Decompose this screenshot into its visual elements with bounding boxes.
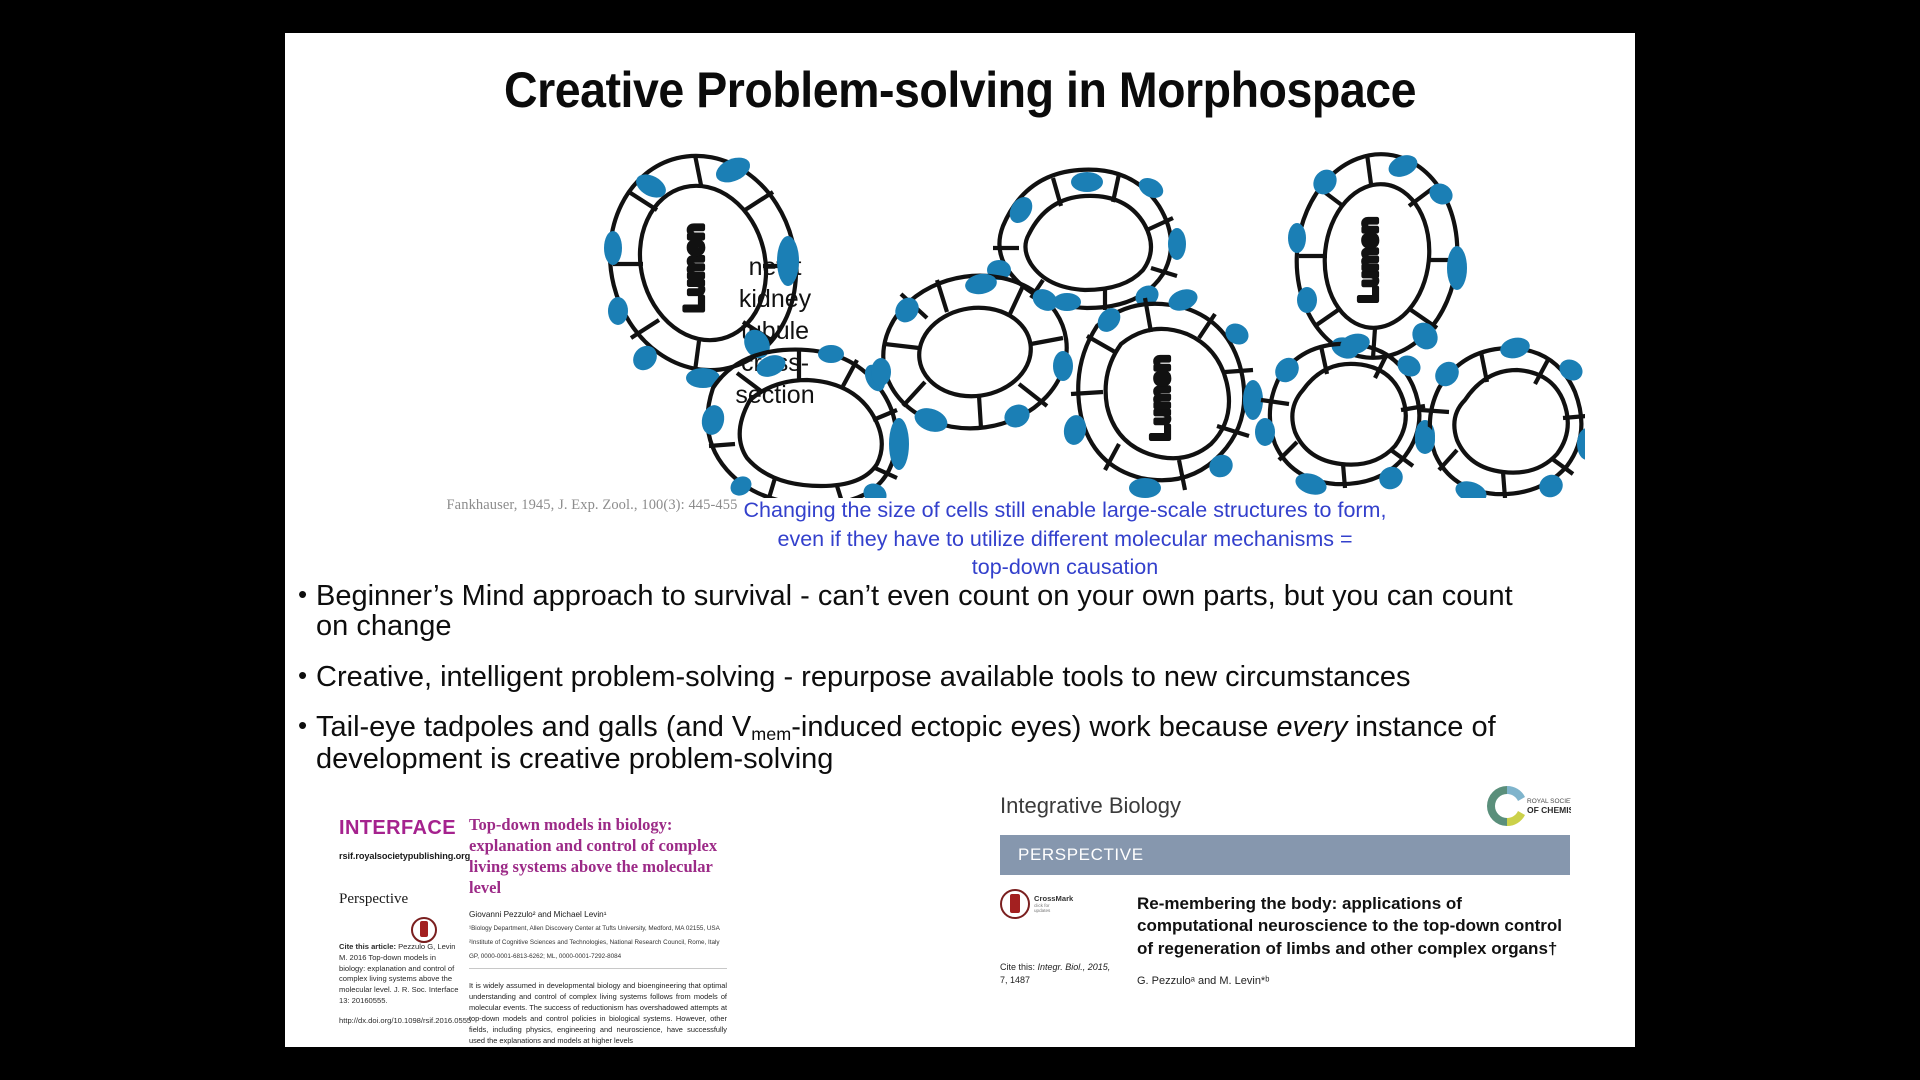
perspective-banner-label: PERSPECTIVE xyxy=(1018,845,1144,865)
bullet-line: Creative, intelligent problem-solving - … xyxy=(316,662,1635,692)
svg-text:ROYAL SOCIETY: ROYAL SOCIETY xyxy=(1527,798,1571,805)
crossmark-badge xyxy=(411,917,471,951)
list-item: • Tail-eye tadpoles and galls (and Vmem-… xyxy=(290,712,1635,774)
integrative-biology-authors: G. Pezzuloᵃ and M. Levin*ᵇ xyxy=(1137,975,1567,987)
cite-journal: Integr. Biol., 2015, xyxy=(1038,962,1111,972)
vmem-subscript: mem xyxy=(751,724,791,744)
crossmark-sublabel: click for updates xyxy=(1034,903,1060,913)
crossmark-badge: CrossMark click for updates xyxy=(1000,889,1060,923)
bullet-text-tail: instance of xyxy=(1347,711,1495,743)
bullet-line: development is creative problem-solving xyxy=(316,744,1635,774)
bullet-text-italic: every xyxy=(1276,711,1347,743)
interface-affiliation: ¹Biology Department, Allen Discovery Cen… xyxy=(469,924,727,933)
bullet-text-before: Tail-eye tadpoles and galls (and V xyxy=(316,711,751,743)
video-frame: Creative Problem-solving in Morphospace … xyxy=(0,0,1920,1080)
interface-url: rsif.royalsocietypublishing.org xyxy=(339,851,459,861)
lumen-label-2: Lumen xyxy=(1145,355,1175,440)
blue-caption-line: Changing the size of cells still enable … xyxy=(685,496,1445,525)
interface-affiliation: ²Institute of Cognitive Sciences and Tec… xyxy=(469,938,727,947)
page-title: Creative Problem-solving in Morphospace xyxy=(332,61,1588,119)
integrative-biology-paper-title: Re-membering the body: applications of c… xyxy=(1137,893,1567,960)
bullet-line: Beginner’s Mind approach to survival - c… xyxy=(316,581,1635,611)
lumen-label-1: Lumen xyxy=(679,224,709,313)
perspective-banner: PERSPECTIVE xyxy=(1000,835,1570,875)
bullet-marker: • xyxy=(298,711,307,741)
integrative-biology-left-column: CrossMark click for updates Cite this: I… xyxy=(1000,889,1120,987)
bullet-text-after: -induced ectopic eyes) work because xyxy=(791,711,1276,743)
interface-authors: Giovanni Pezzulo² and Michael Levin¹ xyxy=(469,910,727,919)
crossmark-label: CrossMark xyxy=(1034,894,1073,903)
lumen-label-3: Lumen xyxy=(1353,217,1383,302)
integrative-biology-citation: Cite this: Integr. Biol., 2015, 7, 1487 xyxy=(1000,961,1120,987)
journal-figure-integrative-biology: ROYAL SOCIETY OF CHEMISTRY Integrative B… xyxy=(985,785,1585,1047)
interface-section: Perspective xyxy=(339,891,459,908)
cite-label: Cite this article: xyxy=(339,942,396,951)
interface-paper-title: Top-down models in biology: explanation … xyxy=(469,815,727,899)
interface-orcid: GP, 0000-0001-6813-6262; ML, 0000-0001-7… xyxy=(469,953,727,960)
blue-caption-line: even if they have to utilize different m… xyxy=(685,525,1445,554)
svg-text:OF CHEMISTRY: OF CHEMISTRY xyxy=(1527,805,1571,815)
bullet-marker: • xyxy=(298,580,307,610)
bullet-list: • Beginner’s Mind approach to survival -… xyxy=(290,581,1635,789)
tubule-cross-section-diagram: Lumen xyxy=(585,148,1585,498)
list-item: • Creative, intelligent problem-solving … xyxy=(290,662,1635,692)
blue-caption: Changing the size of cells still enable … xyxy=(685,496,1445,582)
interface-citation: Cite this article: Pezzulo G, Levin M. 2… xyxy=(339,942,459,1007)
interface-doi: http://dx.doi.org/10.1098/rsif.2016.0555 xyxy=(339,1016,459,1027)
crossmark-bar xyxy=(1010,894,1020,913)
bullet-marker: • xyxy=(298,661,307,691)
crossmark-bar xyxy=(420,921,429,937)
divider xyxy=(469,968,727,969)
royal-society-chemistry-logo: ROYAL SOCIETY OF CHEMISTRY xyxy=(1471,775,1571,835)
list-item: • Beginner’s Mind approach to survival -… xyxy=(290,581,1635,642)
cite-text: Pezzulo G, Levin M. 2016 Top-down models… xyxy=(339,942,458,1005)
interface-brand: INTERFACE xyxy=(339,817,459,840)
cite-label: Cite this: xyxy=(1000,962,1035,972)
journal-figure-interface: INTERFACE rsif.royalsocietypublishing.or… xyxy=(332,795,732,1047)
presentation-slide: Creative Problem-solving in Morphospace … xyxy=(285,33,1635,1047)
cite-volume: 7, 1487 xyxy=(1000,974,1120,987)
bullet-line-rich: Tail-eye tadpoles and galls (and Vmem-in… xyxy=(316,712,1635,744)
bullet-line: on change xyxy=(316,611,1635,641)
blue-caption-line: top-down causation xyxy=(685,553,1445,582)
interface-abstract: It is widely assumed in developmental bi… xyxy=(469,980,727,1047)
